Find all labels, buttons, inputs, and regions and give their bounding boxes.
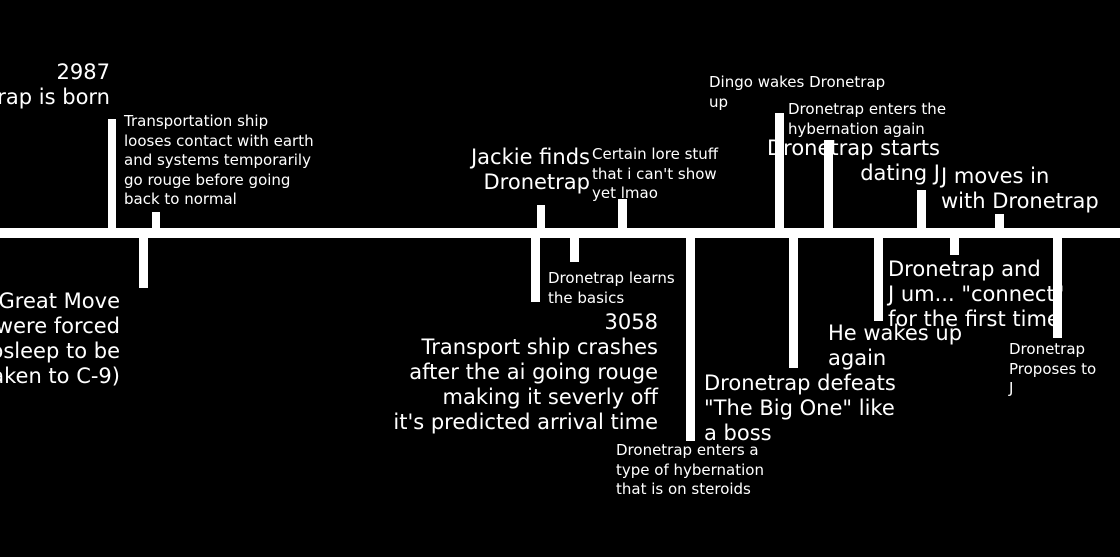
timeline-tick-the-great-move[interactable] bbox=[139, 238, 148, 288]
timeline-label-dronetrap-starts-dating-j: Dronetrap starts dating J bbox=[690, 136, 940, 186]
timeline-label-transport-ship-loses-contact: Transportation ship looses contact with … bbox=[124, 112, 384, 210]
timeline-canvas: 2987 Dronetrap is bornTransportation shi… bbox=[0, 0, 1120, 557]
timeline-label-dronetrap-and-j-connect: Dronetrap and J um... "connect" for the … bbox=[888, 257, 1118, 332]
timeline-label-dronetrap-learns-basics: Dronetrap learns the basics bbox=[548, 269, 748, 308]
timeline-tick-dronetrap-and-j-connect[interactable] bbox=[950, 238, 959, 255]
timeline-axis bbox=[0, 228, 1120, 238]
timeline-label-dronetrap-defeats-big-one: Dronetrap defeats "The Big One" like a b… bbox=[704, 371, 934, 446]
timeline-tick-dronetrap-proposes-to-j[interactable] bbox=[1053, 238, 1062, 338]
timeline-tick-dronetrap-hibernation-steroids[interactable] bbox=[686, 238, 695, 441]
timeline-label-dronetrap-hibernation-steroids: Dronetrap enters a type of hybernation t… bbox=[616, 441, 836, 500]
timeline-label-drontrap-born: 2987 Dronetrap is born bbox=[0, 60, 110, 110]
timeline-tick-dronetrap-starts-dating-j[interactable] bbox=[917, 190, 926, 228]
timeline-tick-drontrap-born[interactable] bbox=[108, 119, 116, 228]
timeline-tick-j-moves-in[interactable] bbox=[995, 214, 1004, 228]
timeline-label-jackie-finds-dronetrap: Jackie finds Dronetrap bbox=[350, 145, 590, 195]
timeline-tick-dronetrap-learns-basics[interactable] bbox=[570, 238, 579, 262]
timeline-label-the-great-move: The Great Move (all SSO's were forced in… bbox=[0, 289, 120, 389]
timeline-tick-dronetrap-defeats-big-one[interactable] bbox=[789, 238, 798, 368]
timeline-label-dronetrap-hibernation-again: Dronetrap enters the hybernation again bbox=[788, 100, 978, 139]
timeline-tick-transport-ship-crashes[interactable] bbox=[531, 238, 540, 302]
timeline-tick-he-wakes-up-again[interactable] bbox=[874, 238, 883, 321]
timeline-tick-jackie-finds-dronetrap[interactable] bbox=[537, 205, 545, 228]
timeline-tick-transport-ship-loses-contact[interactable] bbox=[152, 212, 160, 228]
timeline-label-transport-ship-crashes: 3058 Transport ship crashes after the ai… bbox=[238, 310, 658, 435]
timeline-label-dronetrap-proposes-to-j: Dronetrap Proposes to J bbox=[1009, 340, 1119, 399]
timeline-label-j-moves-in: J moves in with Dronetrap bbox=[941, 164, 1120, 214]
